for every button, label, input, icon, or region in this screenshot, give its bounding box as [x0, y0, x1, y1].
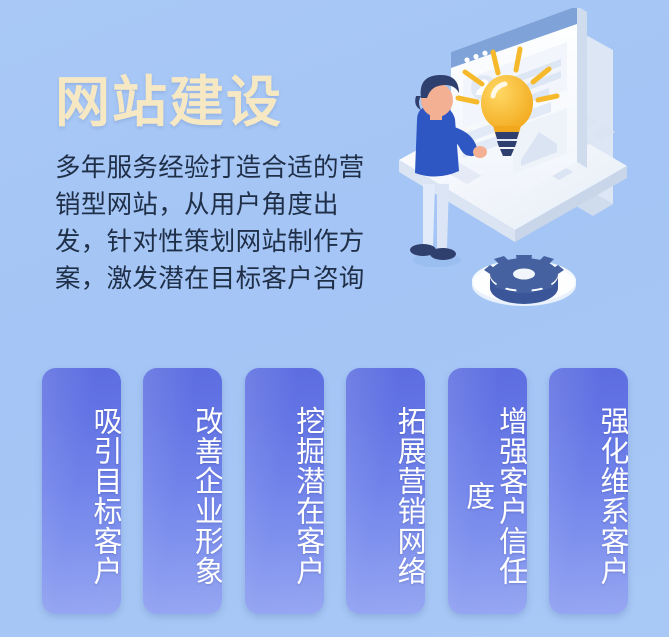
feature-card-label: 挖掘潜在客户 — [245, 394, 324, 598]
page-title: 网站建设 — [55, 70, 395, 134]
feature-card-strengthen-customer-retention[interactable]: 强化维系客户 — [549, 368, 628, 614]
isometric-laptop-illustration — [381, 8, 667, 318]
hero-text-block: 网站建设 多年服务经验打造合适的营销型网站，从用户角度出发，针对性策划网站制作方… — [55, 70, 395, 298]
website-construction-banner: 网站建设 多年服务经验打造合适的营销型网站，从用户角度出发，针对性策划网站制作方… — [0, 0, 669, 637]
feature-card-label: 增强客户信任度 — [448, 394, 527, 598]
hero-description: 多年服务经验打造合适的营销型网站，从用户角度出发，针对性策划网站制作方案，激发潜… — [55, 150, 377, 298]
feature-card-label: 改善企业形象 — [143, 394, 222, 598]
feature-card-enhance-customer-trust[interactable]: 增强客户信任度 — [448, 368, 527, 614]
gear-icon — [472, 255, 576, 306]
feature-card-label: 强化维系客户 — [549, 394, 628, 598]
feature-card-mine-potential-customers[interactable]: 挖掘潜在客户 — [245, 368, 324, 614]
feature-card-list: 吸引目标客户 改善企业形象 挖掘潜在客户 拓展营销网络 增强客户信任度 强化维系… — [42, 368, 628, 614]
feature-card-expand-marketing-network[interactable]: 拓展营销网络 — [346, 368, 425, 614]
feature-card-label: 吸引目标客户 — [42, 394, 121, 598]
feature-card-label: 拓展营销网络 — [346, 394, 425, 598]
feature-card-attract-target-customers[interactable]: 吸引目标客户 — [42, 368, 121, 614]
feature-card-improve-corporate-image[interactable]: 改善企业形象 — [143, 368, 222, 614]
